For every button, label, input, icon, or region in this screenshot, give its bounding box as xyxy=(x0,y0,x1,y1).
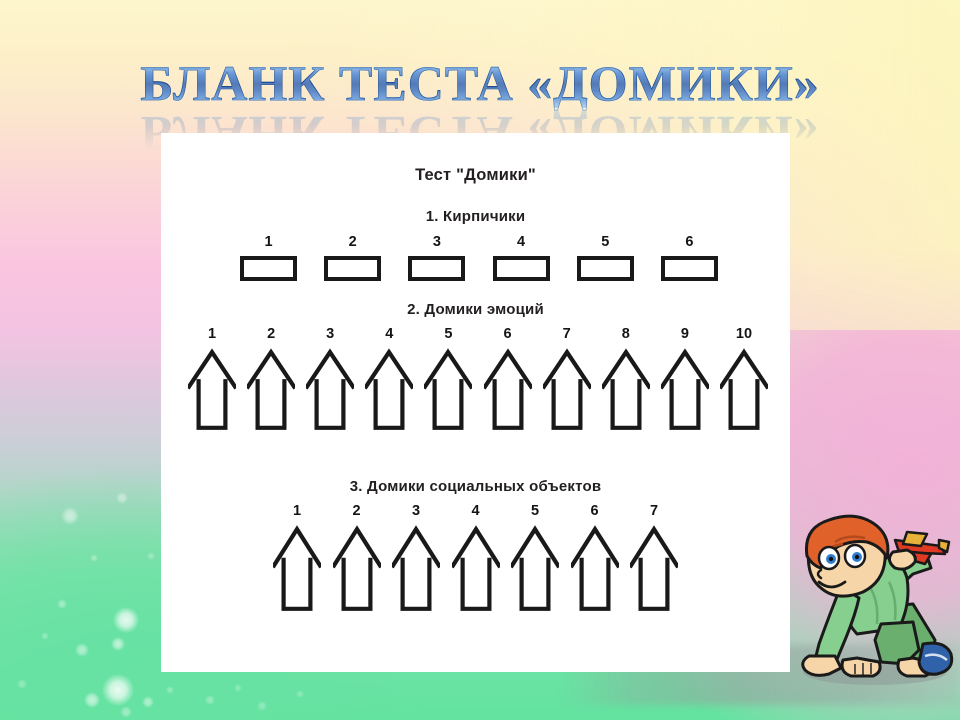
house-number-label: 4 xyxy=(471,504,479,519)
house-outline[interactable] xyxy=(424,348,472,432)
emotion-house-item[interactable]: 8 xyxy=(602,327,650,432)
house-number-label: 6 xyxy=(590,504,598,519)
form-title: Тест "Домики" xyxy=(161,166,790,185)
house-outline[interactable] xyxy=(188,348,236,432)
brick-number-label: 5 xyxy=(601,235,609,250)
brick-number-label: 4 xyxy=(517,235,525,250)
emotion-house-item[interactable]: 9 xyxy=(661,327,709,432)
social-house-item[interactable]: 1 xyxy=(273,504,321,613)
brick-item[interactable]: 6 xyxy=(661,235,718,281)
brick-number-label: 3 xyxy=(433,235,441,250)
brick-box[interactable] xyxy=(493,256,550,281)
house-number-label: 5 xyxy=(444,327,452,342)
social-houses-row: 1234567 xyxy=(273,504,678,613)
house-number-label: 3 xyxy=(326,327,334,342)
house-outline[interactable] xyxy=(333,525,381,613)
brick-box[interactable] xyxy=(240,256,297,281)
section-heading-emotion-houses: 2. Домики эмоций xyxy=(161,301,790,318)
slide-canvas: БЛАНК ТЕСТА «ДОМИКИ» БЛАНК ТЕСТА «ДОМИКИ… xyxy=(0,0,960,720)
emotion-houses-row: 12345678910 xyxy=(188,327,768,432)
house-outline[interactable] xyxy=(247,348,295,432)
house-outline[interactable] xyxy=(571,525,619,613)
brick-item[interactable]: 1 xyxy=(240,235,297,281)
house-number-label: 6 xyxy=(504,327,512,342)
house-number-label: 9 xyxy=(681,327,689,342)
brick-item[interactable]: 4 xyxy=(493,235,550,281)
social-house-item[interactable]: 5 xyxy=(511,504,559,613)
house-outline[interactable] xyxy=(484,348,532,432)
social-house-item[interactable]: 2 xyxy=(333,504,381,613)
social-house-item[interactable]: 3 xyxy=(392,504,440,613)
house-number-label: 3 xyxy=(412,504,420,519)
house-outline[interactable] xyxy=(392,525,440,613)
house-outline[interactable] xyxy=(306,348,354,432)
emotion-house-item[interactable]: 6 xyxy=(484,327,532,432)
brick-number-label: 6 xyxy=(685,235,693,250)
section-heading-social-houses: 3. Домики социальных объектов xyxy=(161,478,790,495)
house-number-label: 4 xyxy=(385,327,393,342)
emotion-house-item[interactable]: 10 xyxy=(720,327,768,432)
house-number-label: 1 xyxy=(208,327,216,342)
house-number-label: 7 xyxy=(563,327,571,342)
house-number-label: 2 xyxy=(267,327,275,342)
house-outline[interactable] xyxy=(543,348,591,432)
house-outline[interactable] xyxy=(661,348,709,432)
emotion-house-item[interactable]: 3 xyxy=(306,327,354,432)
emotion-house-item[interactable]: 7 xyxy=(543,327,591,432)
house-outline[interactable] xyxy=(273,525,321,613)
house-outline[interactable] xyxy=(630,525,678,613)
brick-box[interactable] xyxy=(577,256,634,281)
social-house-item[interactable]: 6 xyxy=(571,504,619,613)
house-number-label: 1 xyxy=(293,504,301,519)
house-number-label: 8 xyxy=(622,327,630,342)
house-outline[interactable] xyxy=(511,525,559,613)
brick-item[interactable]: 5 xyxy=(577,235,634,281)
social-house-item[interactable]: 4 xyxy=(452,504,500,613)
house-number-label: 7 xyxy=(650,504,658,519)
brick-box[interactable] xyxy=(408,256,465,281)
test-form-sheet: Тест "Домики" 1. Кирпичики 123456 2. Дом… xyxy=(161,133,790,672)
emotion-house-item[interactable]: 5 xyxy=(424,327,472,432)
bricks-row: 123456 xyxy=(240,235,718,281)
emotion-house-item[interactable]: 2 xyxy=(247,327,295,432)
house-number-label: 2 xyxy=(352,504,360,519)
social-house-item[interactable]: 7 xyxy=(630,504,678,613)
brick-box[interactable] xyxy=(324,256,381,281)
house-number-label: 5 xyxy=(531,504,539,519)
brick-number-label: 2 xyxy=(349,235,357,250)
brick-item[interactable]: 2 xyxy=(324,235,381,281)
house-number-label: 10 xyxy=(736,327,752,342)
crawling-boy-illustration xyxy=(795,512,955,687)
brick-box[interactable] xyxy=(661,256,718,281)
house-outline[interactable] xyxy=(452,525,500,613)
house-outline[interactable] xyxy=(602,348,650,432)
section-heading-bricks: 1. Кирпичики xyxy=(161,208,790,225)
emotion-house-item[interactable]: 1 xyxy=(188,327,236,432)
house-outline[interactable] xyxy=(365,348,413,432)
house-outline[interactable] xyxy=(720,348,768,432)
emotion-house-item[interactable]: 4 xyxy=(365,327,413,432)
brick-number-label: 1 xyxy=(264,235,272,250)
brick-item[interactable]: 3 xyxy=(408,235,465,281)
